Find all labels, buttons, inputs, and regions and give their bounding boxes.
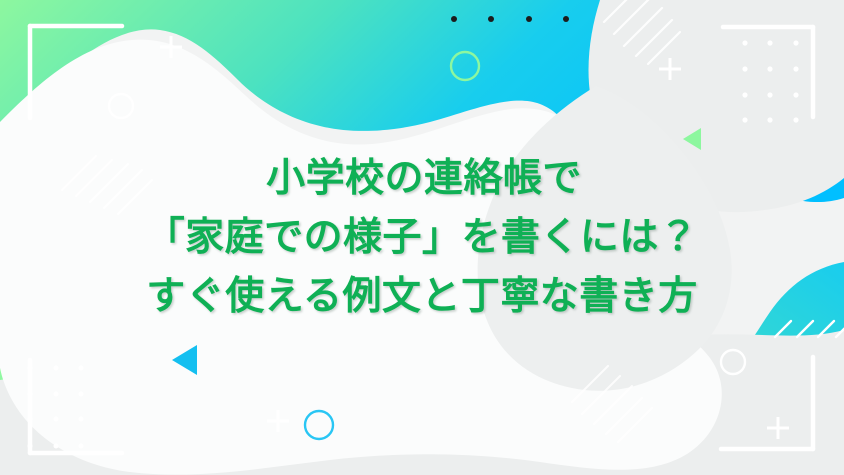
background-art — [0, 0, 844, 475]
title-card: 小学校の連絡帳で 「家庭での様子」を書くには？ すぐ使える例文と丁寧な書き方 — [0, 0, 844, 475]
